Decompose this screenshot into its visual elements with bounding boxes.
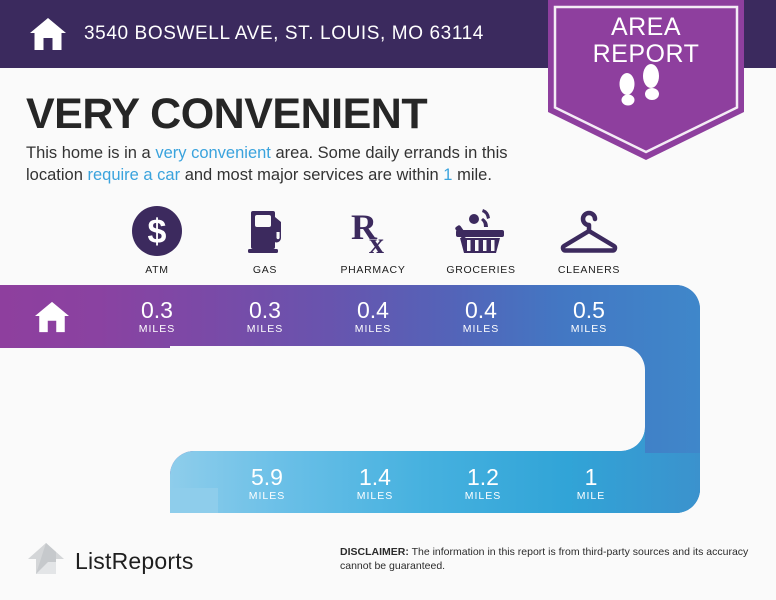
home-icon (28, 16, 68, 52)
distance-value: 5.9 (251, 465, 283, 489)
distance-cell-coffee: 1.4 MILES (321, 453, 429, 513)
distance-cell-groceries: 0.4 MILES (427, 285, 535, 348)
distance-unit: MILES (465, 490, 502, 502)
distance-cell-cleaners: 0.5 MILES (535, 285, 643, 348)
distance-value: 0.5 (573, 298, 605, 322)
listreports-house-logo (26, 540, 66, 583)
distance-cell-gas: 0.3 MILES (211, 285, 319, 348)
icon-cell-gas: GAS (211, 203, 319, 276)
distance-value: 0.4 (357, 298, 389, 322)
icon-cell-groceries: GROCERIES (427, 203, 535, 276)
distance-unit: MILE (577, 490, 606, 502)
area-report-badge: AREA REPORT (548, 0, 744, 160)
grocery-basket-icon (427, 203, 535, 257)
icon-row-essentials: $ ATM GAS (103, 203, 643, 276)
summary-highlight-1: very convenient (155, 144, 271, 162)
badge-title: AREA REPORT (548, 14, 744, 68)
area-report-infographic: 3540 BOSWELL AVE, ST. LOUIS, MO 63114 AR… (0, 0, 776, 600)
disclaimer: DISCLAIMER: The information in this repo… (340, 545, 760, 573)
page-title: VERY CONVENIENT (26, 90, 546, 139)
home-marker (0, 285, 103, 348)
distance-unit: MILES (463, 323, 500, 335)
distance-unit: MILES (355, 323, 392, 335)
svg-text:x: x (369, 227, 384, 257)
summary-text: This home is in a very convenient area. … (26, 142, 538, 186)
icon-label: CLEANERS (535, 264, 643, 276)
summary-part-1: This home is in a (26, 144, 155, 162)
distance-cell-atm: 0.3 MILES (103, 285, 211, 348)
distance-unit: MILES (247, 323, 284, 335)
atm-icon: $ (103, 203, 211, 257)
listreports-wordmark: ListReports (75, 548, 194, 575)
disclaimer-label: DISCLAIMER: (340, 546, 409, 558)
distance-cells: 0.3 MILES 0.3 MILES 0.4 MILES 0.4 MILES … (0, 283, 776, 513)
summary-part-3: and most major services are within (180, 166, 443, 184)
distance-cell-gym: 1.2 MILES (429, 453, 537, 513)
summary-part-4: mile. (452, 166, 491, 184)
distance-cell-medical: 1 MILE (537, 453, 645, 513)
distance-value: 0.4 (465, 298, 497, 322)
property-address: 3540 BOSWELL AVE, ST. LOUIS, MO 63114 (84, 23, 484, 45)
clothes-hanger-icon (535, 203, 643, 257)
distance-unit: MILES (571, 323, 608, 335)
distance-value: 0.3 (249, 298, 281, 322)
icon-label: GROCERIES (427, 264, 535, 276)
badge-line-2: REPORT (548, 41, 744, 68)
icon-cell-pharmacy: R x PHARMACY (319, 203, 427, 276)
distance-value: 1 (585, 465, 598, 489)
distance-value: 0.3 (141, 298, 173, 322)
distance-value: 1.4 (359, 465, 391, 489)
icon-label: ATM (103, 264, 211, 276)
distance-value: 1.2 (467, 465, 499, 489)
icon-cell-cleaners: CLEANERS (535, 203, 643, 276)
distance-snake-bar: 0.3 MILES 0.3 MILES 0.4 MILES 0.4 MILES … (0, 283, 776, 513)
gas-pump-icon (211, 203, 319, 257)
home-icon (32, 300, 72, 334)
prescription-rx-icon: R x (319, 203, 427, 257)
distance-cell-pharmacy: 0.4 MILES (319, 285, 427, 348)
distance-unit: MILES (357, 490, 394, 502)
listreports-logo: ListReports (26, 540, 194, 583)
summary-highlight-2: require a car (87, 166, 180, 184)
distance-unit: MILES (249, 490, 286, 502)
badge-line-1: AREA (548, 14, 744, 41)
icon-label: GAS (211, 264, 319, 276)
icon-label: PHARMACY (319, 264, 427, 276)
distance-unit: MILES (139, 323, 176, 335)
distance-cell-movie-theater: 5.9 MILES (213, 453, 321, 513)
svg-text:$: $ (148, 213, 167, 251)
icon-cell-atm: $ ATM (103, 203, 211, 276)
